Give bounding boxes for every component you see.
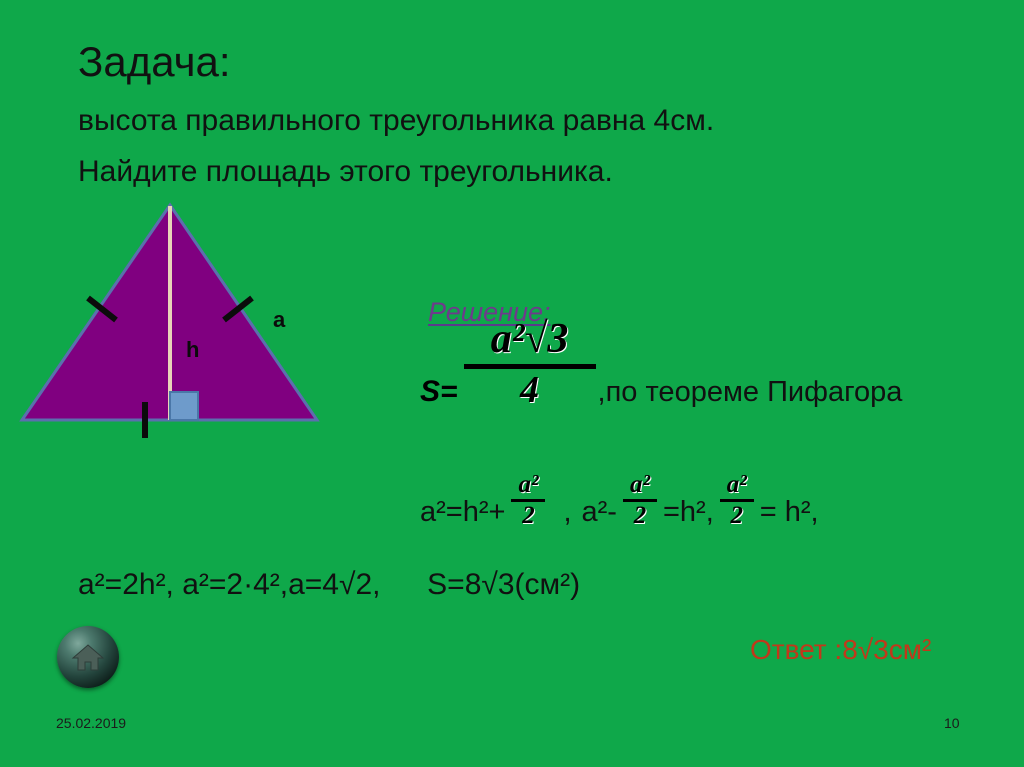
s-equals-label: S=	[420, 315, 458, 409]
side-label-a: a	[273, 307, 285, 333]
denominator: 2	[725, 502, 750, 528]
denominator: 2	[516, 502, 541, 528]
final-computation-line: a²=2h², a²=2·4²,a=4√2, S=8√3(см²)	[78, 568, 580, 602]
area-formula: S= a²√3 4 ,по теореме Пифагора	[420, 315, 902, 409]
page-title: Задача:	[78, 40, 231, 84]
pythagoras-note: ,по теореме Пифагора	[598, 316, 903, 409]
numerator: a²	[624, 472, 656, 499]
home-button[interactable]	[57, 626, 119, 688]
home-icon	[71, 642, 105, 672]
area-fraction-numerator: a²√3	[481, 316, 579, 364]
area-fraction-denominator: 4	[510, 369, 549, 409]
pythagoras-part-4: =h²,	[663, 470, 714, 529]
denominator: 2	[628, 502, 653, 528]
final-area-result: S=8√3(см²)	[427, 568, 580, 601]
problem-statement-line-2: Найдите площадь этого треугольника.	[78, 155, 613, 189]
pythagoras-derivation: a²=h²+ a² 2 , a²- a² 2 =h², a² 2 = h²,	[420, 470, 819, 529]
slide-canvas: Задача: высота правильного треугольника …	[0, 0, 1024, 767]
fraction-a2-over-2-third: a² 2	[720, 472, 754, 528]
right-angle-marker	[170, 392, 198, 420]
numerator: a²	[512, 472, 544, 499]
pythagoras-part-2: ,	[551, 470, 581, 529]
triangle-svg	[0, 190, 360, 440]
pythagoras-part-3: a²-	[582, 470, 617, 529]
fraction-a2-over-2-second: a² 2	[623, 472, 657, 528]
footer-date: 25.02.2019	[56, 715, 126, 731]
answer-text: Ответ :8√3см²	[750, 634, 931, 666]
final-algebra: a²=2h², a²=2·4²,a=4√2,	[78, 568, 380, 601]
fraction-a2-over-2-first: a² 2	[511, 472, 545, 528]
pythagoras-part-5: = h²,	[760, 470, 819, 529]
problem-statement-line-1: высота правильного треугольника равна 4с…	[78, 104, 714, 138]
triangle-diagram	[0, 190, 360, 440]
pythagoras-part-1: a²=h²+	[420, 470, 505, 529]
height-label-h: h	[186, 337, 199, 363]
footer-page-number: 10	[944, 715, 960, 731]
numerator: a²	[721, 472, 753, 499]
area-fraction: a²√3 4	[464, 316, 596, 409]
